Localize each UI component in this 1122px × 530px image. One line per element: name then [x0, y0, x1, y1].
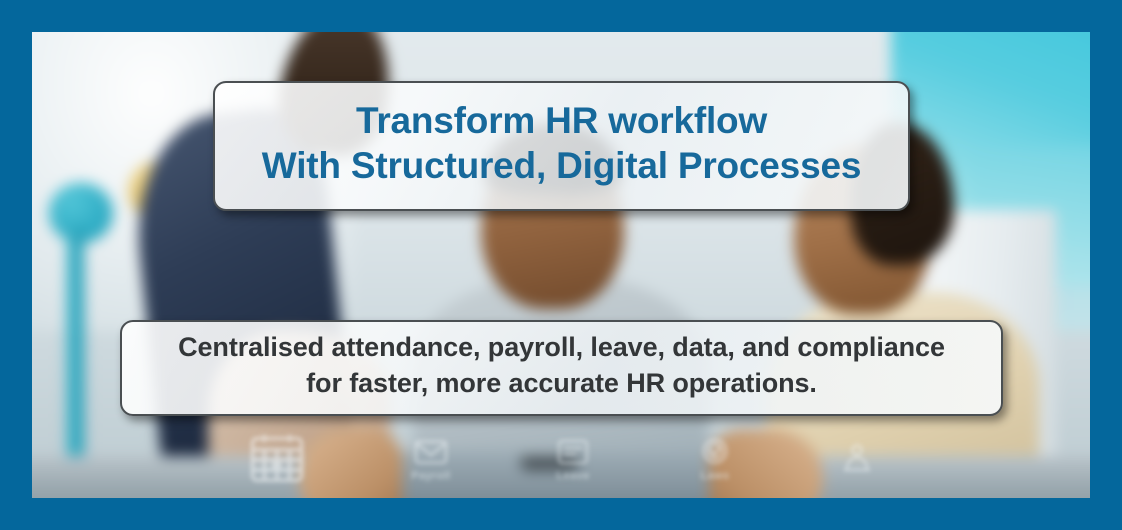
subtitle-card: Centralised attendance, payroll, leave, …: [120, 320, 1003, 416]
photo-laptop-notch: [521, 457, 578, 470]
headline-card: Transform HR workflow With Structured, D…: [213, 81, 910, 211]
photo-teal-lamp-stem: [67, 227, 84, 456]
subtitle-line-2: for faster, more accurate HR operations.: [178, 366, 945, 402]
subtitle-text: Centralised attendance, payroll, leave, …: [178, 330, 945, 402]
headline-line-2: With Structured, Digital Processes: [262, 143, 861, 188]
subtitle-line-1: Centralised attendance, payroll, leave, …: [178, 330, 945, 366]
hr-promo-banner: Payroll Leave Laws: [0, 0, 1122, 530]
headline-text: Transform HR workflow With Structured, D…: [262, 98, 861, 188]
headline-line-1: Transform HR workflow: [262, 98, 861, 143]
